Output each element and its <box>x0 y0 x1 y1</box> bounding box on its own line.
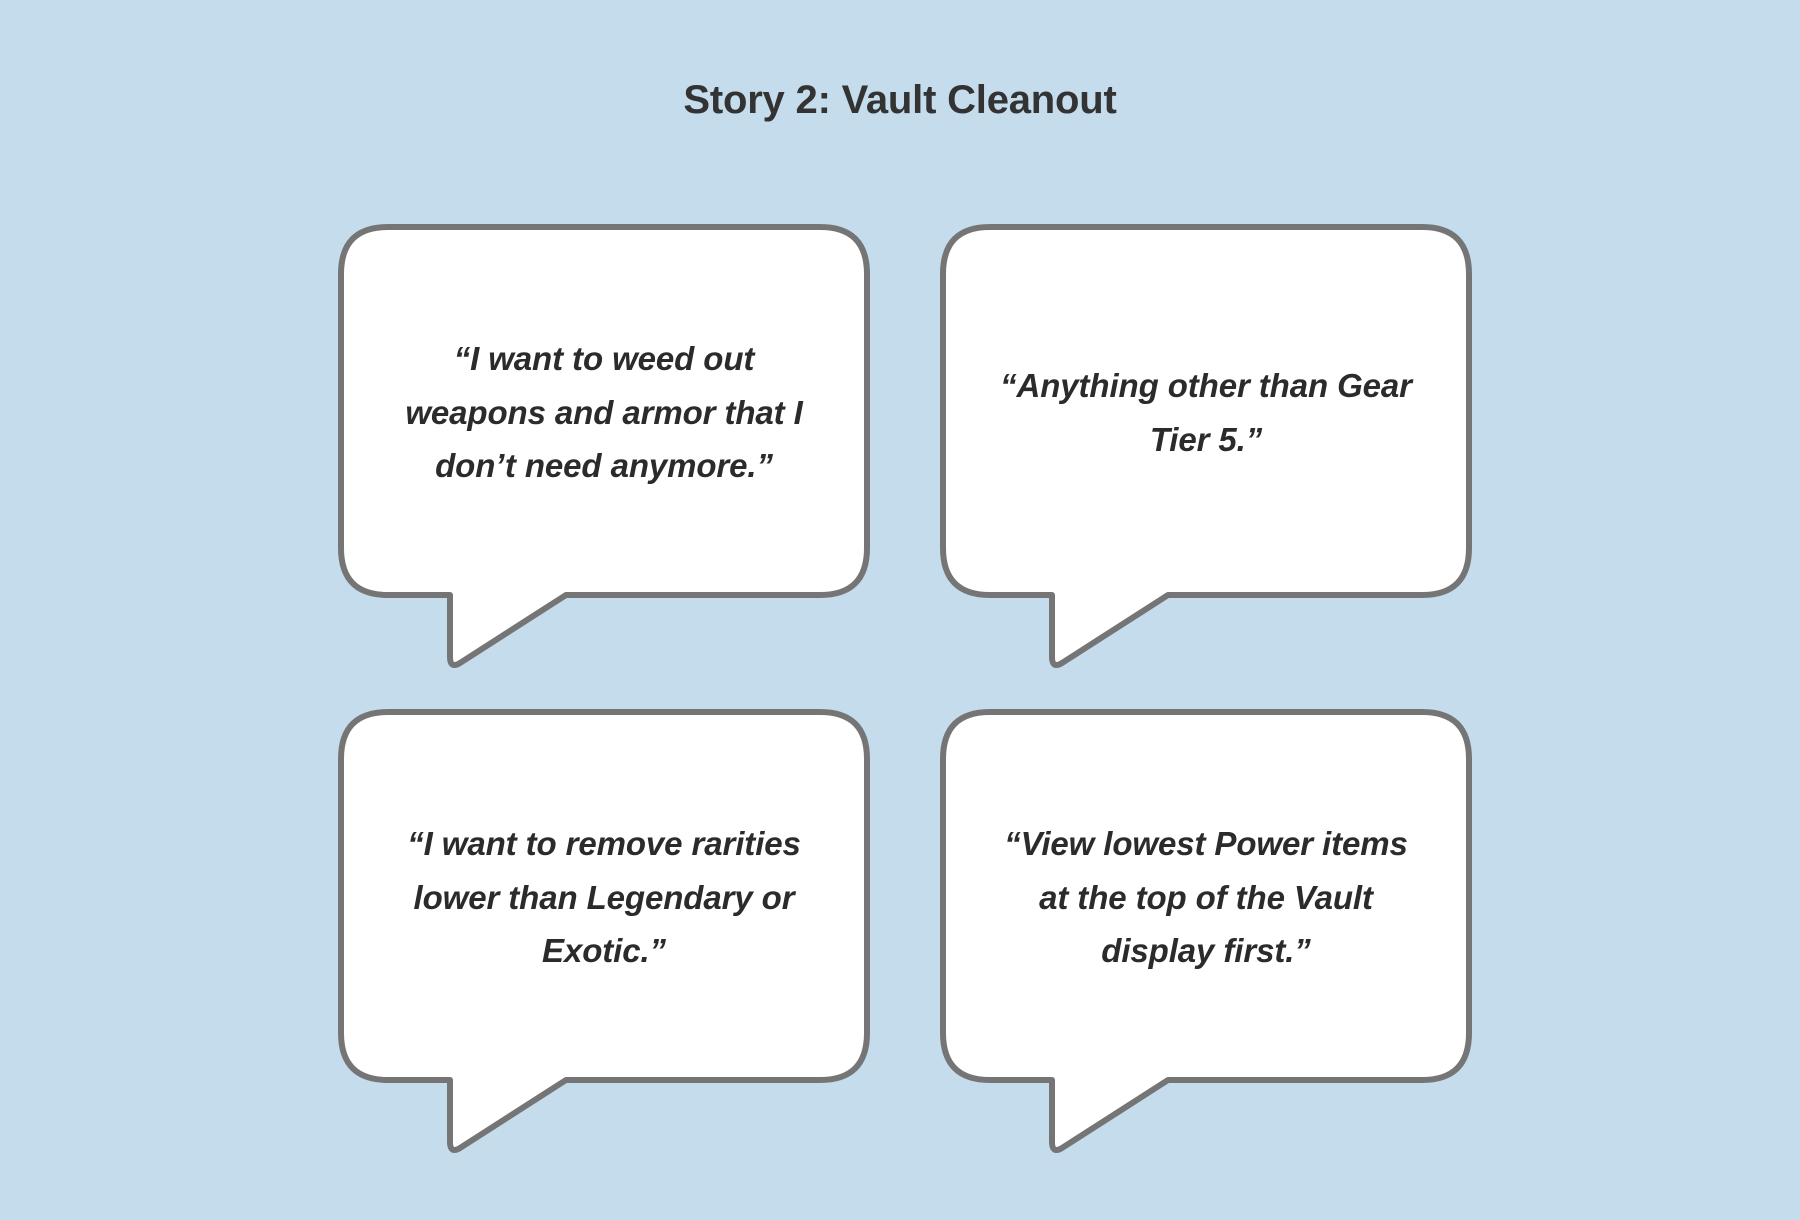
quote-text: “I want to weed out weapons and armor th… <box>388 332 820 492</box>
quote-text: “View lowest Power items at the top of t… <box>990 817 1422 977</box>
speech-bubble-top-right[interactable]: “Anything other than Gear Tier 5.” <box>946 230 1466 595</box>
page-title: Story 2: Vault Cleanout <box>0 76 1800 124</box>
speech-bubble-bottom-right[interactable]: “View lowest Power items at the top of t… <box>946 715 1466 1080</box>
speech-bubble-text-wrapper: “I want to weed out weapons and armor th… <box>344 230 864 595</box>
speech-bubble-text-wrapper: “Anything other than Gear Tier 5.” <box>946 230 1466 595</box>
speech-bubble-bottom-left[interactable]: “I want to remove rarities lower than Le… <box>344 715 864 1080</box>
quote-text: “I want to remove rarities lower than Le… <box>388 817 820 977</box>
quote-text: “Anything other than Gear Tier 5.” <box>990 359 1422 466</box>
speech-bubble-text-wrapper: “I want to remove rarities lower than Le… <box>344 715 864 1080</box>
slide-canvas: Story 2: Vault Cleanout “I want to weed … <box>0 0 1800 1220</box>
speech-bubble-grid: “I want to weed out weapons and armor th… <box>344 230 1465 1080</box>
speech-bubble-text-wrapper: “View lowest Power items at the top of t… <box>946 715 1466 1080</box>
speech-bubble-top-left[interactable]: “I want to weed out weapons and armor th… <box>344 230 864 595</box>
